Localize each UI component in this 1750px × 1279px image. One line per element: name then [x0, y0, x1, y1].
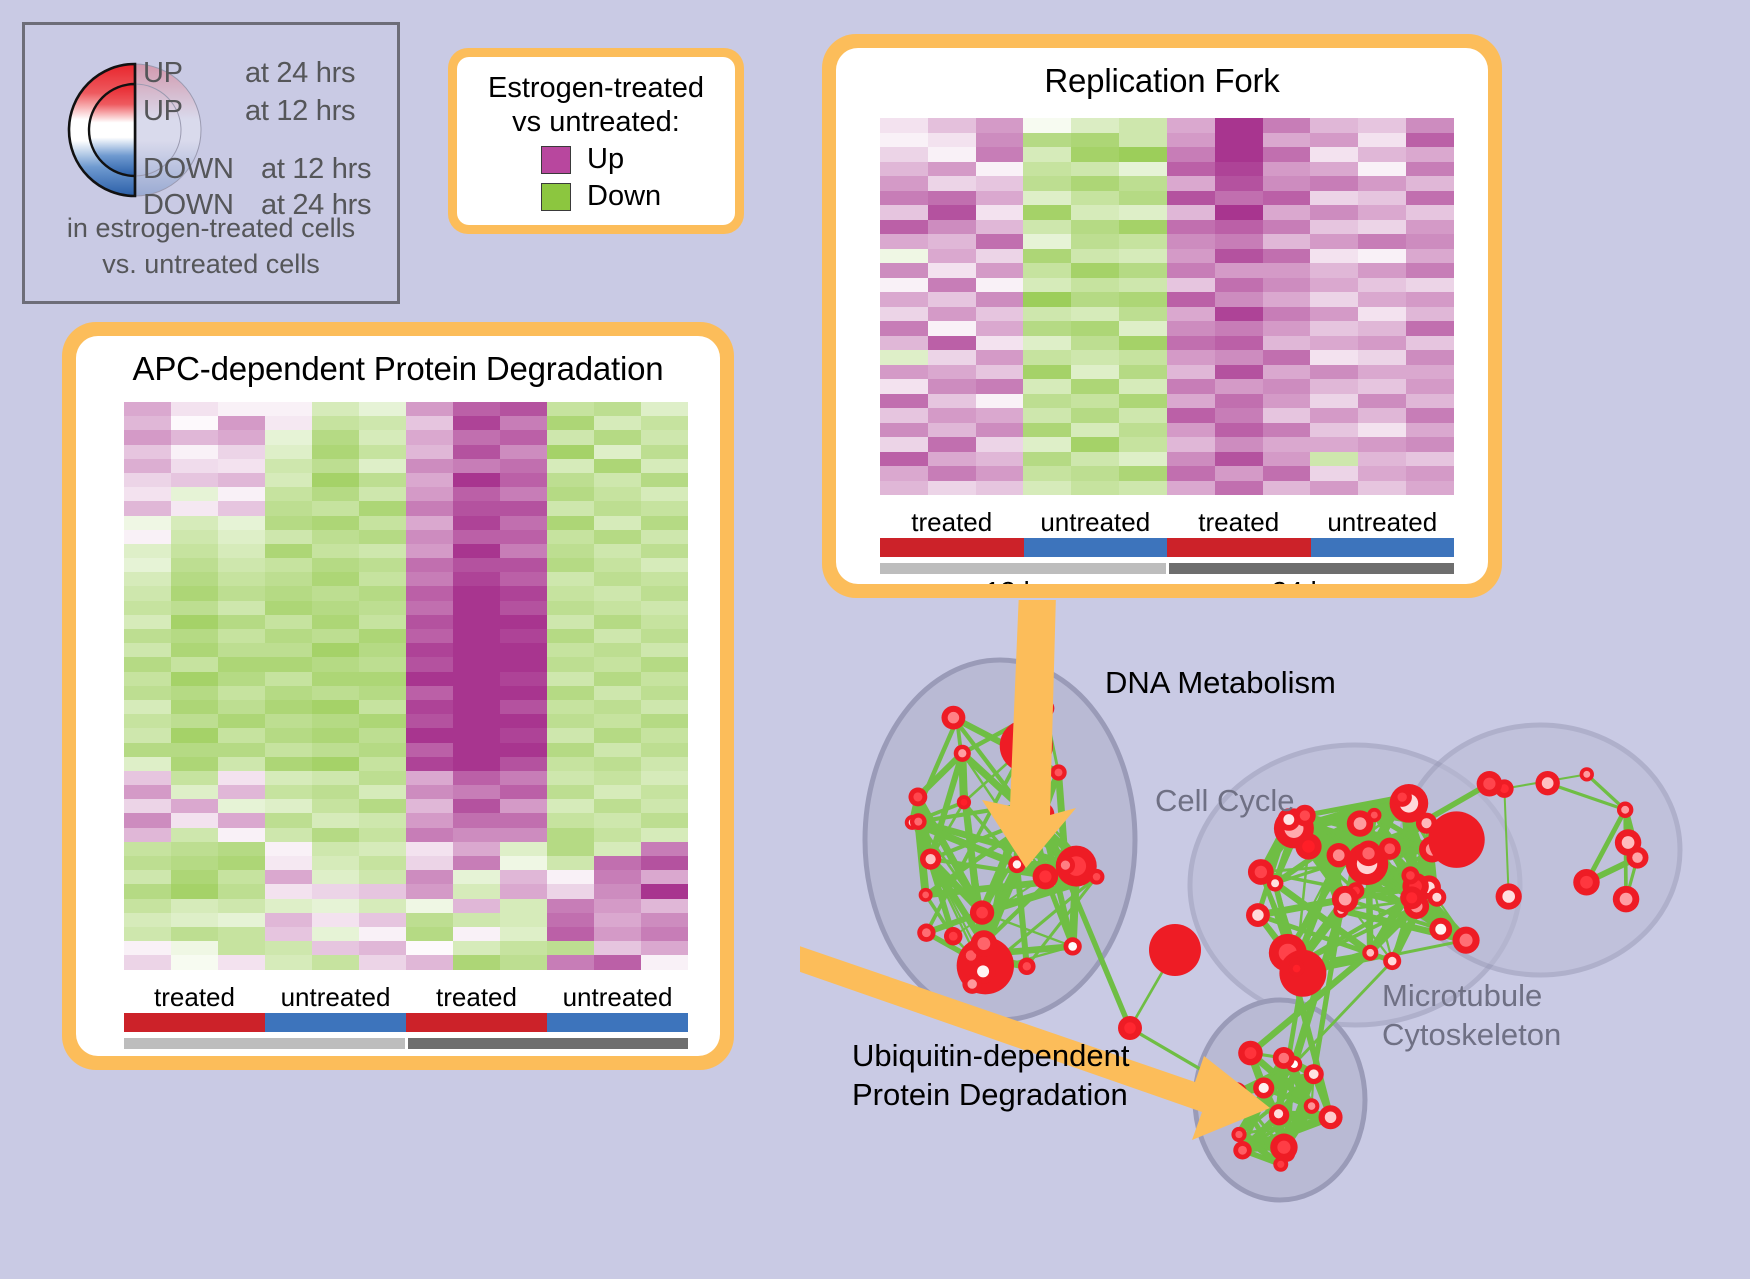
network-node[interactable] [1050, 764, 1066, 780]
heatmap-cell [594, 501, 641, 515]
heatmap-cell [124, 445, 171, 459]
heatmap-cell [312, 672, 359, 686]
network-node[interactable] [1379, 838, 1401, 860]
heatmap-cell [1071, 249, 1119, 264]
heatmap-cell [265, 813, 312, 827]
heatmap-cell [1263, 365, 1311, 380]
heatmap-cell [976, 118, 1024, 133]
network-node[interactable] [954, 745, 971, 762]
heatmap-cell [1263, 147, 1311, 162]
heatmap-cell [312, 757, 359, 771]
heatmap-cell [976, 321, 1024, 336]
heatmap-cell [171, 686, 218, 700]
key-item-down: Down [541, 180, 725, 213]
heatmap-cell [171, 927, 218, 941]
heatmap-cell [1310, 437, 1358, 452]
heatmap-cell [500, 629, 547, 643]
heatmap-cell [880, 423, 928, 438]
condition-segment-untreated [1311, 538, 1455, 557]
heatmap-cell [124, 672, 171, 686]
network-node[interactable] [1289, 961, 1305, 977]
heatmap-cell [453, 828, 500, 842]
heatmap-cell [1263, 481, 1311, 496]
network-node[interactable] [1238, 1041, 1263, 1066]
legend-row-down-12-label: DOWN [143, 153, 234, 186]
network-node[interactable] [1535, 771, 1559, 795]
condition-segment-treated [124, 1013, 265, 1032]
heatmap-cell [171, 828, 218, 842]
heatmap-cell [265, 714, 312, 728]
heatmap-cell [453, 743, 500, 757]
network-node[interactable] [1573, 869, 1600, 896]
heatmap-cell [359, 643, 406, 657]
heatmap-cell [500, 430, 547, 444]
heatmap-cell [500, 941, 547, 955]
heatmap-cell [312, 870, 359, 884]
heatmap-cell [594, 572, 641, 586]
time-bar-apc [124, 1038, 688, 1049]
heatmap-cell [359, 516, 406, 530]
heatmap-cell [453, 473, 500, 487]
updown-key-panel: Estrogen-treated vs untreated: Up Down [448, 48, 744, 234]
heatmap-cell [124, 700, 171, 714]
heatmap-cell [1406, 336, 1454, 351]
heatmap-cell [312, 459, 359, 473]
heatmap-cell [1215, 234, 1263, 249]
heatmap-cell [547, 473, 594, 487]
heatmap-cell [641, 757, 688, 771]
heatmap-cell [1215, 162, 1263, 177]
heatmap-cell [359, 728, 406, 742]
heatmap-cell [641, 516, 688, 530]
heatmap-cell [641, 899, 688, 913]
heatmap-cell [1167, 350, 1215, 365]
network-node[interactable] [1273, 1157, 1288, 1172]
heatmap-cell [1358, 162, 1406, 177]
heatmap-cell [1310, 408, 1358, 423]
heatmap-cell [547, 601, 594, 615]
heatmap-cell [641, 799, 688, 813]
heatmap-cell [171, 643, 218, 657]
heatmap-cell [928, 321, 976, 336]
heatmap-cell [641, 884, 688, 898]
heatmap-cell [1167, 365, 1215, 380]
heatmap-cell [312, 785, 359, 799]
sample-labels-apc: treateduntreatedtreateduntreated [124, 982, 688, 1013]
heatmap-cell [218, 927, 265, 941]
network-node[interactable] [917, 924, 935, 942]
network-node[interactable] [1319, 1105, 1343, 1129]
heatmap-cell [453, 416, 500, 430]
heatmap-cell [218, 771, 265, 785]
heatmap-cell [1263, 423, 1311, 438]
network-node[interactable] [1149, 924, 1201, 976]
heatmap-cell [312, 884, 359, 898]
heatmap-cell [312, 743, 359, 757]
network-node[interactable] [1347, 810, 1373, 836]
network-node[interactable] [1428, 811, 1484, 867]
network-node[interactable] [1231, 1127, 1246, 1142]
network-node[interactable] [1056, 855, 1075, 874]
heatmap-cell [500, 842, 547, 856]
network-node[interactable] [1627, 847, 1649, 869]
heatmap-cell [1310, 133, 1358, 148]
heatmap-cell [1406, 263, 1454, 278]
heatmap-cell [171, 884, 218, 898]
heatmap-cell [124, 757, 171, 771]
network-node[interactable] [1033, 864, 1059, 890]
heatmap-cell [880, 307, 928, 322]
heatmap-cell [594, 672, 641, 686]
heatmap-cell [406, 771, 453, 785]
heatmap-cell [218, 743, 265, 757]
network-node[interactable] [1269, 1104, 1288, 1123]
heatmap-cell [641, 643, 688, 657]
heatmap-cell [1071, 292, 1119, 307]
network-node[interactable] [1304, 1064, 1324, 1084]
heatmap-cell [1215, 437, 1263, 452]
heatmap-cell [406, 785, 453, 799]
heatmap-cell [547, 771, 594, 785]
heatmap-cell [976, 408, 1024, 423]
heatmap-cell [594, 913, 641, 927]
network-node[interactable] [1580, 767, 1594, 781]
heatmap-cell [1215, 336, 1263, 351]
heatmap-cell [928, 147, 976, 162]
heatmap-cell [124, 615, 171, 629]
network-node[interactable] [957, 795, 971, 809]
heatmap-cell [406, 856, 453, 870]
legend-row-up-12-label: UP [143, 95, 183, 128]
network-node[interactable] [1401, 866, 1419, 884]
network-node[interactable] [1400, 886, 1423, 909]
heatmap-cell [1215, 408, 1263, 423]
heatmap-cell [359, 757, 406, 771]
heatmap-cell [265, 657, 312, 671]
heatmap-cell [171, 955, 218, 969]
heatmap-cell [1310, 466, 1358, 481]
heatmap-cell [547, 672, 594, 686]
heatmap-cell [1023, 147, 1071, 162]
heatmap-cell [1119, 292, 1167, 307]
legend-row-up-24-time: at 24 hrs [245, 57, 355, 90]
heatmap-cell [124, 927, 171, 941]
heatmap-cell [500, 601, 547, 615]
heatmap-cell [265, 544, 312, 558]
heatmap-cell [218, 402, 265, 416]
heatmap-cell [359, 586, 406, 600]
heatmap-cell [312, 828, 359, 842]
heatmap-cell [124, 643, 171, 657]
heatmap-cell [1167, 408, 1215, 423]
network-node[interactable] [1248, 859, 1274, 885]
heatmap-cell [312, 728, 359, 742]
heatmap-cell [594, 884, 641, 898]
network-node[interactable] [1295, 833, 1321, 859]
heatmap-cell [1406, 365, 1454, 380]
heatmap-cell [218, 842, 265, 856]
heatmap-cell [500, 686, 547, 700]
network-node[interactable] [1273, 1047, 1295, 1069]
heatmap-cell [218, 813, 265, 827]
heatmap-cell [1310, 249, 1358, 264]
heatmap-cell [1023, 249, 1071, 264]
heatmap-cell [124, 601, 171, 615]
heatmap-cell [124, 870, 171, 884]
heatmap-cell [1406, 408, 1454, 423]
heatmap-cell [500, 657, 547, 671]
heatmap-cell [641, 870, 688, 884]
heatmap-cell [500, 927, 547, 941]
cluster-label-microtubule: Microtubule [1382, 978, 1542, 1014]
heatmap-cell [265, 530, 312, 544]
heatmap-cell [641, 927, 688, 941]
heatmap-cell [1167, 118, 1215, 133]
heatmap-cell [976, 437, 1024, 452]
heatmap-cell [124, 501, 171, 515]
heatmap-cell [641, 657, 688, 671]
heatmap-cell [1263, 408, 1311, 423]
heatmap-cell [976, 234, 1024, 249]
heatmap-cell [1310, 220, 1358, 235]
heatmap-cell [1310, 205, 1358, 220]
up-swatch-icon [541, 146, 571, 174]
condition-bar-apc [124, 1013, 688, 1032]
condition-bar-replication-fork [880, 538, 1454, 557]
heatmap-cell [976, 249, 1024, 264]
network-node[interactable] [962, 974, 982, 994]
heatmap-cell [453, 402, 500, 416]
heatmap-cell [218, 799, 265, 813]
heatmap-cell [1167, 191, 1215, 206]
network-node[interactable] [1270, 1134, 1297, 1161]
heatmap-cell [928, 205, 976, 220]
heatmap-cell [880, 220, 928, 235]
network-node[interactable] [1332, 886, 1359, 913]
heatmap-cell [406, 629, 453, 643]
heatmap-cell [171, 487, 218, 501]
network-node[interactable] [1118, 1016, 1142, 1040]
heatmap-cell [641, 530, 688, 544]
heatmap-cell [976, 307, 1024, 322]
heatmap-cell [1310, 365, 1358, 380]
heatmap-cell [453, 544, 500, 558]
heatmap-cell [124, 544, 171, 558]
network-node[interactable] [1246, 903, 1270, 927]
heatmap-cell [1119, 263, 1167, 278]
network-node[interactable] [919, 888, 933, 902]
heatmap-cell [218, 828, 265, 842]
network-node[interactable] [920, 848, 941, 869]
heatmap-cell [406, 402, 453, 416]
heatmap-cell [594, 955, 641, 969]
sample-label: treated [124, 982, 265, 1013]
heatmap-cell [453, 558, 500, 572]
network-node[interactable] [1452, 927, 1479, 954]
heatmap-cell [1358, 437, 1406, 452]
heatmap-cell [641, 572, 688, 586]
heatmap-replication-fork [880, 118, 1454, 495]
heatmap-cell [171, 558, 218, 572]
heatmap-cell [1310, 307, 1358, 322]
heatmap-cell [641, 913, 688, 927]
network-node[interactable] [1613, 886, 1640, 913]
heatmap-cell [880, 437, 928, 452]
heatmap-cell [265, 785, 312, 799]
heatmap-cell [547, 416, 594, 430]
condition-segment-untreated [265, 1013, 406, 1032]
heatmap-cell [1358, 307, 1406, 322]
heatmap-cell [312, 615, 359, 629]
network-node[interactable] [1429, 918, 1452, 941]
heatmap-cell [1406, 321, 1454, 336]
condition-segment-untreated [547, 1013, 688, 1032]
heatmap-cell [500, 700, 547, 714]
heatmap-cell [594, 530, 641, 544]
network-node[interactable] [908, 788, 927, 807]
heatmap-cell [1406, 292, 1454, 307]
heatmap-cell [880, 379, 928, 394]
heatmap-cell [928, 191, 976, 206]
heatmap-cell [976, 278, 1024, 293]
network-node[interactable] [1294, 805, 1316, 827]
heatmap-cell [1215, 176, 1263, 191]
heatmap-cell [1071, 307, 1119, 322]
heatmap-cell [218, 728, 265, 742]
network-node[interactable] [970, 900, 994, 924]
heatmap-cell [500, 416, 547, 430]
heatmap-cell [976, 176, 1024, 191]
heatmap-cell [453, 714, 500, 728]
heatmap-cell [453, 657, 500, 671]
heatmap-cell [547, 955, 594, 969]
heatmap-cell [1215, 379, 1263, 394]
heatmap-cell [406, 686, 453, 700]
heatmap-cell [594, 544, 641, 558]
heatmap-cell [453, 459, 500, 473]
heatmap-cell [641, 402, 688, 416]
network-node[interactable] [1392, 787, 1411, 806]
heatmap-cell [406, 700, 453, 714]
heatmap-cell [171, 601, 218, 615]
heatmap-cell [406, 459, 453, 473]
network-node[interactable] [1356, 841, 1382, 867]
heatmap-cell [312, 572, 359, 586]
heatmap-cell [976, 147, 1024, 162]
network-node[interactable] [1253, 1077, 1274, 1098]
heatmap-cell [1023, 452, 1071, 467]
heatmap-cell [218, 459, 265, 473]
condition-segment-untreated [1024, 538, 1168, 557]
heatmap-cell [312, 686, 359, 700]
network-node[interactable] [910, 813, 927, 830]
heatmap-cell [1406, 278, 1454, 293]
heatmap-cell [641, 672, 688, 686]
heatmap-cell [453, 842, 500, 856]
network-node[interactable] [1617, 802, 1633, 818]
network-node[interactable] [1327, 843, 1351, 867]
heatmap-cell [500, 813, 547, 827]
heatmap-cell [880, 147, 928, 162]
heatmap-cell [359, 544, 406, 558]
heatmap-cell [453, 615, 500, 629]
panel-title-apc: APC-dependent Protein Degradation [76, 336, 720, 388]
heatmap-cell [1215, 133, 1263, 148]
network-node[interactable] [941, 706, 965, 730]
network-node[interactable] [944, 927, 962, 945]
heatmap-cell [406, 828, 453, 842]
heatmap-cell [124, 799, 171, 813]
heatmap-cell [171, 870, 218, 884]
heatmap-cell [124, 402, 171, 416]
heatmap-cell [594, 941, 641, 955]
heatmap-cell [976, 162, 1024, 177]
heatmap-cell [312, 473, 359, 487]
heatmap-cell [928, 118, 976, 133]
heatmap-cell [880, 394, 928, 409]
heatmap-cell [547, 501, 594, 515]
heatmap-cell [265, 643, 312, 657]
network-node[interactable] [1477, 771, 1502, 796]
heatmap-cell [406, 530, 453, 544]
heatmap-cell [265, 899, 312, 913]
heatmap-cell [453, 884, 500, 898]
heatmap-cell [928, 307, 976, 322]
heatmap-cell [359, 884, 406, 898]
heatmap-cell [359, 955, 406, 969]
heatmap-cell [453, 927, 500, 941]
key-title: Estrogen-treated vs untreated: [467, 71, 725, 139]
heatmap-cell [1358, 249, 1406, 264]
network-node[interactable] [971, 930, 998, 957]
heatmap-cell [1263, 379, 1311, 394]
heatmap-cell [312, 771, 359, 785]
network-node[interactable] [1362, 945, 1378, 961]
heatmap-cell [1263, 292, 1311, 307]
heatmap-cell [406, 757, 453, 771]
heatmap-cell [265, 870, 312, 884]
network-node[interactable] [1018, 958, 1035, 975]
heatmap-cell [1263, 249, 1311, 264]
heatmap-cell [1358, 278, 1406, 293]
network-node[interactable] [1089, 869, 1105, 885]
heatmap-cell [406, 572, 453, 586]
heatmap-cell [265, 927, 312, 941]
network-node[interactable] [1427, 888, 1446, 907]
network-node[interactable] [1496, 883, 1522, 909]
heatmap-cell [218, 686, 265, 700]
heatmap-cell [1263, 466, 1311, 481]
heatmap-cell [641, 955, 688, 969]
heatmap-cell [1119, 408, 1167, 423]
heatmap-cell [218, 884, 265, 898]
heatmap-cell [1310, 379, 1358, 394]
pathway-network-diagram [800, 600, 1750, 1279]
heatmap-cell [547, 558, 594, 572]
network-node[interactable] [1233, 1141, 1251, 1159]
network-node[interactable] [1304, 1098, 1320, 1114]
network-node[interactable] [1383, 952, 1401, 970]
time-segment [124, 1038, 405, 1049]
heatmap-cell [1119, 350, 1167, 365]
heatmap-cell [1071, 336, 1119, 351]
heatmap-cell [1023, 176, 1071, 191]
heatmap-cell [500, 955, 547, 969]
heatmap-cell [976, 263, 1024, 278]
heatmap-cell [547, 544, 594, 558]
network-node[interactable] [1064, 937, 1082, 955]
heatmap-cell [312, 799, 359, 813]
